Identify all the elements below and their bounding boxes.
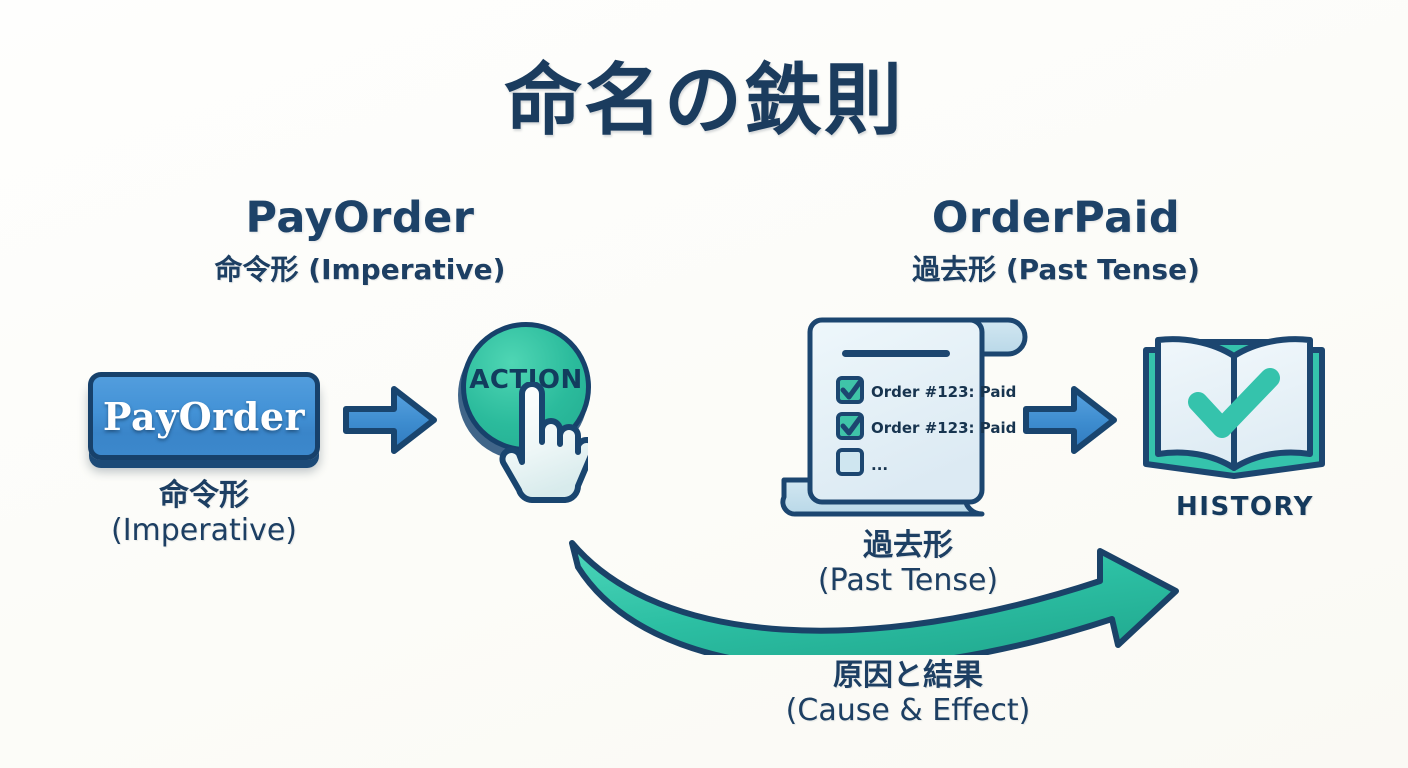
payorder-button-label: PayOrder: [103, 394, 305, 439]
imperative-caption-en: (Imperative): [64, 513, 344, 548]
payorder-command-button[interactable]: PayOrder: [88, 372, 320, 460]
imperative-caption: 命令形 (Imperative): [64, 478, 344, 548]
left-heading-main: PayOrder: [150, 196, 570, 241]
imperative-caption-jp: 命令形: [64, 478, 344, 513]
right-heading-sub: 過去形 (Past Tense): [846, 248, 1266, 288]
scroll-item-label-2: Order #123: Paid: [871, 419, 1016, 437]
diagram-canvas: 命名の鉄則 PayOrder 命令形 (Imperative) OrderPai…: [0, 0, 1408, 768]
scroll-document-icon: Order #123: Paid Order #123: Paid ...: [770, 310, 1040, 525]
arrow-right-icon: [340, 378, 440, 462]
left-heading-sub: 命令形 (Imperative): [150, 248, 570, 288]
page-title: 命名の鉄則: [0, 38, 1408, 150]
scroll-item-label-3: ...: [871, 456, 888, 474]
pointing-hand-cursor-icon: [492, 382, 588, 510]
open-book-icon: [1136, 326, 1332, 486]
right-heading-main: OrderPaid: [846, 196, 1266, 241]
cause-effect-caption-jp: 原因と結果: [768, 658, 1048, 693]
arrow-right-icon: [1020, 378, 1120, 462]
cause-effect-caption-en: (Cause & Effect): [768, 693, 1048, 728]
scroll-item-label-1: Order #123: Paid: [871, 383, 1016, 401]
cause-effect-caption: 原因と結果 (Cause & Effect): [768, 658, 1048, 728]
left-column-heading: PayOrder 命令形 (Imperative): [150, 196, 570, 288]
curved-arrow-icon: [540, 515, 1220, 655]
right-column-heading: OrderPaid 過去形 (Past Tense): [846, 196, 1266, 288]
